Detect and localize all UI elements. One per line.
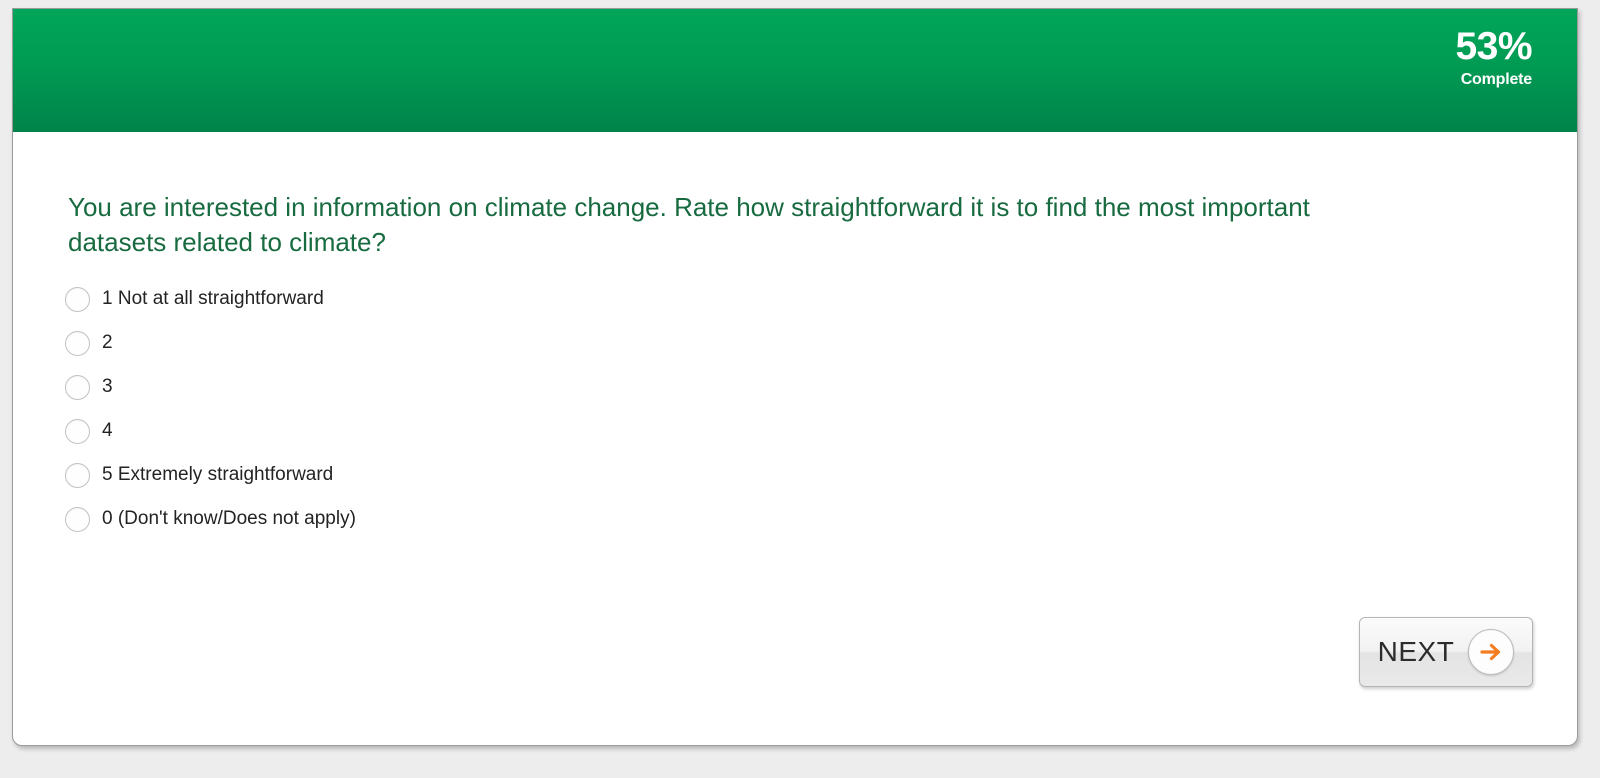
option-label: 1 Not at all straightforward [102, 288, 324, 310]
option-row[interactable]: 0 (Don't know/Does not apply) [65, 497, 965, 541]
radio-button-icon[interactable] [65, 375, 90, 400]
survey-card: 53% Complete You are interested in infor… [12, 8, 1578, 746]
progress-percent: 53% [1455, 27, 1532, 66]
option-label: 5 Extremely straightforward [102, 464, 333, 486]
progress-header: 53% Complete [13, 9, 1577, 132]
radio-button-icon[interactable] [65, 507, 90, 532]
option-row[interactable]: 5 Extremely straightforward [65, 453, 965, 497]
question-text: You are interested in information on cli… [68, 190, 1358, 259]
option-row[interactable]: 2 [65, 321, 965, 365]
option-row[interactable]: 3 [65, 365, 965, 409]
option-label: 3 [102, 376, 113, 398]
next-button[interactable]: NEXT [1359, 617, 1533, 687]
arrow-right-icon [1468, 629, 1514, 675]
option-list: 1 Not at all straightforward 2 3 4 5 Ext… [65, 277, 965, 541]
progress-caption: Complete [1455, 72, 1532, 88]
option-label: 2 [102, 332, 113, 354]
radio-button-icon[interactable] [65, 331, 90, 356]
option-row[interactable]: 1 Not at all straightforward [65, 277, 965, 321]
option-row[interactable]: 4 [65, 409, 965, 453]
radio-button-icon[interactable] [65, 463, 90, 488]
next-button-label: NEXT [1378, 636, 1455, 668]
option-label: 0 (Don't know/Does not apply) [102, 508, 356, 530]
radio-button-icon[interactable] [65, 287, 90, 312]
progress-indicator: 53% Complete [1455, 27, 1532, 88]
question-body: You are interested in information on cli… [13, 132, 1577, 745]
radio-button-icon[interactable] [65, 419, 90, 444]
option-label: 4 [102, 420, 113, 442]
